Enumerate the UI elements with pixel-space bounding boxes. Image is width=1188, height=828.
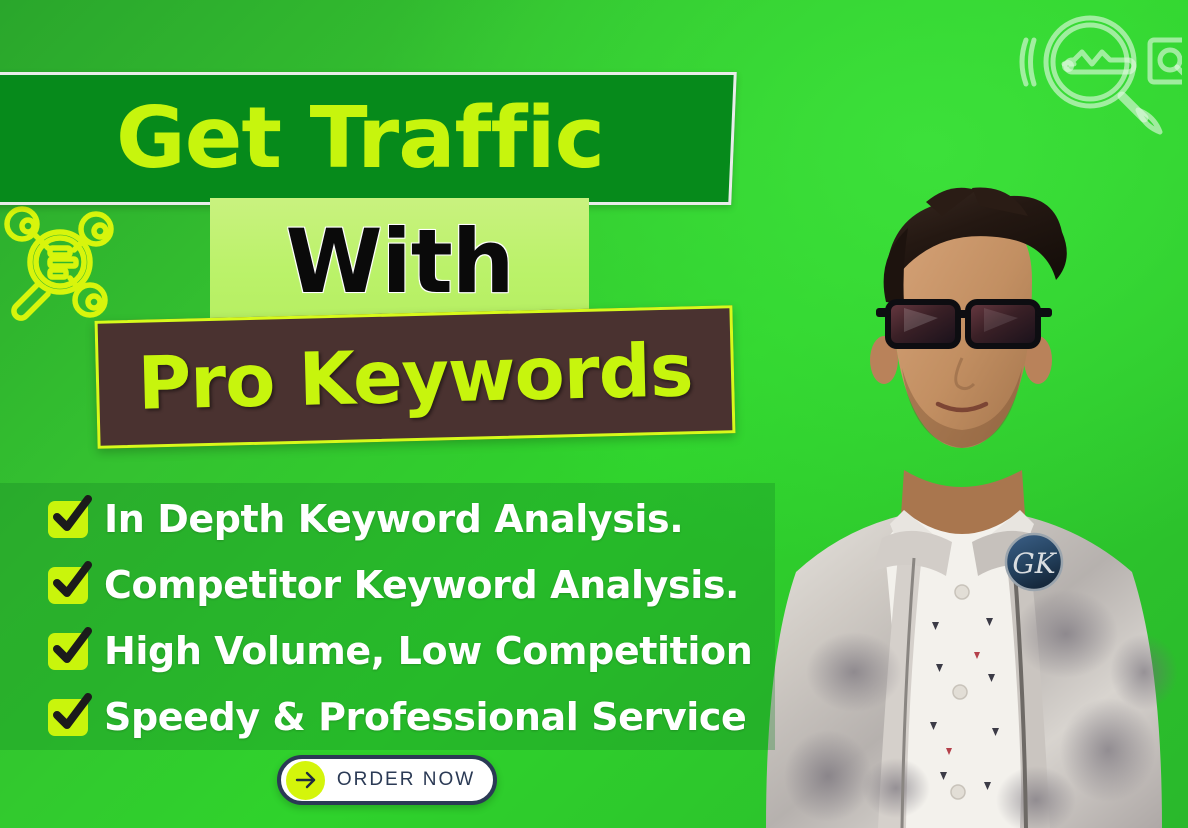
feature-label: In Depth Keyword Analysis.: [104, 500, 683, 538]
headline-line2-text: With: [286, 218, 514, 306]
checkmark-icon: [48, 633, 88, 670]
checkmark-icon: [48, 699, 88, 736]
feature-list: In Depth Keyword Analysis. Competitor Ke…: [48, 486, 778, 750]
person-portrait: GK: [736, 152, 1188, 828]
svg-text:GK: GK: [1012, 547, 1057, 580]
list-item: Competitor Keyword Analysis.: [48, 552, 778, 618]
headline-get-traffic: Get Traffic: [0, 72, 737, 205]
feature-label: Speedy & Professional Service: [104, 698, 746, 736]
headline-line1-text: Get Traffic: [116, 96, 604, 181]
keyword-magnifier-icon: [1004, 2, 1182, 152]
order-now-label: ORDER NOW: [325, 769, 493, 791]
checkmark-icon: [48, 501, 88, 538]
arrow-right-icon: [286, 761, 325, 800]
headline-line3-text: Pro Keywords: [137, 334, 693, 421]
list-item: In Depth Keyword Analysis.: [48, 486, 778, 552]
list-item: Speedy & Professional Service: [48, 684, 778, 750]
feature-label: High Volume, Low Competition: [104, 632, 752, 670]
keyword-research-magnifier-icon: [0, 196, 130, 328]
headline-with: With: [210, 198, 589, 325]
checkmark-icon: [48, 567, 88, 604]
feature-label: Competitor Keyword Analysis.: [104, 566, 739, 604]
headline-pro-keywords: Pro Keywords: [95, 305, 736, 449]
promo-banner: GK: [0, 0, 1188, 828]
order-now-button[interactable]: ORDER NOW: [277, 755, 497, 805]
list-item: High Volume, Low Competition: [48, 618, 778, 684]
